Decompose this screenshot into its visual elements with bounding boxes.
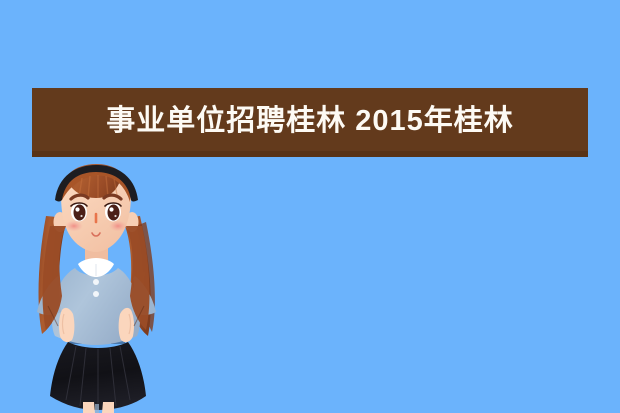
right-blush xyxy=(109,221,127,232)
banner-footer-strip xyxy=(32,151,588,157)
shirt-button-bottom xyxy=(93,291,99,297)
shirt-button-top xyxy=(93,279,99,285)
right-eye xyxy=(105,203,121,222)
page-title: 事业单位招聘桂林 2015年桂林 xyxy=(106,107,514,136)
left-blush xyxy=(65,221,83,232)
left-eye xyxy=(71,203,87,222)
cartoon-schoolgirl-illustration xyxy=(28,164,178,413)
left-hand xyxy=(59,308,74,342)
title-banner: 事业单位招聘桂林 2015年桂林 xyxy=(32,88,588,157)
page-canvas: 事业单位招聘桂林 2015年桂林 xyxy=(0,0,620,413)
right-hand xyxy=(119,308,134,342)
